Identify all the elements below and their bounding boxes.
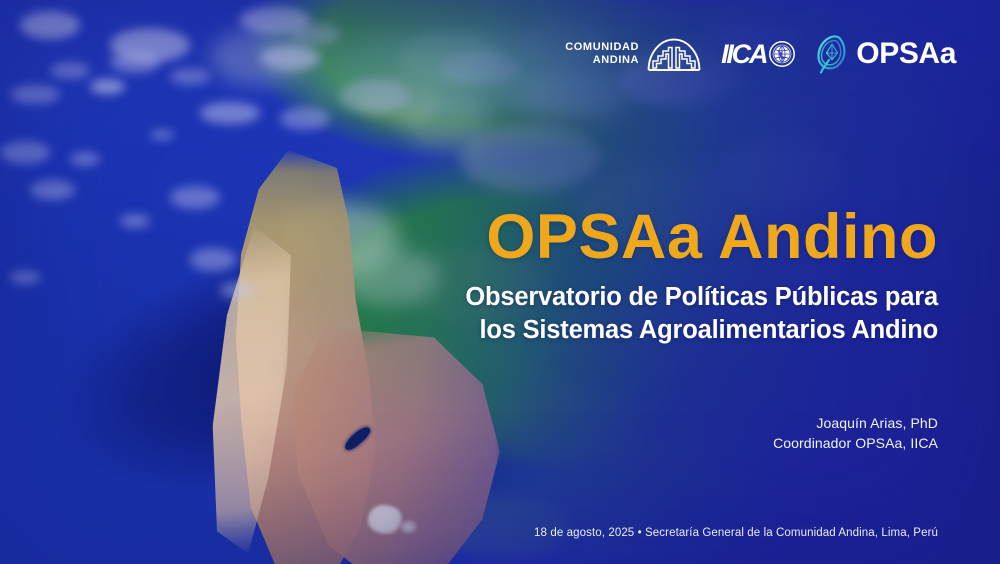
logo-bar: COMUNIDAD ANDINA IICA [565,34,956,74]
leaf-icon [815,34,849,74]
can-line-2: ANDINA [565,54,639,67]
logo-iica: IICA [721,41,795,68]
author-block: Joaquín Arias, PhD Coordinador OPSAa, II… [773,413,938,454]
iica-wordmark: IICA [721,41,766,68]
author-name: Joaquín Arias, PhD [773,413,938,433]
can-line-1: COMUNIDAD [565,41,639,54]
subtitle: Observatorio de Políticas Públicas para … [318,281,938,346]
subtitle-line-2: los Sistemas Agroalimentarios Andino [318,314,938,347]
opsaa-wordmark: OPSAa [856,39,956,69]
footer-event-info: 18 de agosto, 2025 • Secretaría General … [534,527,938,539]
title-slide: COMUNIDAD ANDINA IICA [0,0,1000,564]
slide-content: COMUNIDAD ANDINA IICA [0,0,1000,564]
can-wordmark: COMUNIDAD ANDINA [565,41,639,67]
logo-comunidad-andina: COMUNIDAD ANDINA [565,37,701,71]
author-role: Coordinador OPSAa, IICA [773,433,938,453]
main-title: OPSAa Andino [318,206,938,269]
logo-opsaa: OPSAa [815,34,956,74]
andean-arch-icon [647,37,701,71]
globe-icon [769,41,795,67]
subtitle-line-1: Observatorio de Políticas Públicas para [318,281,938,314]
title-block: OPSAa Andino Observatorio de Políticas P… [318,206,938,346]
